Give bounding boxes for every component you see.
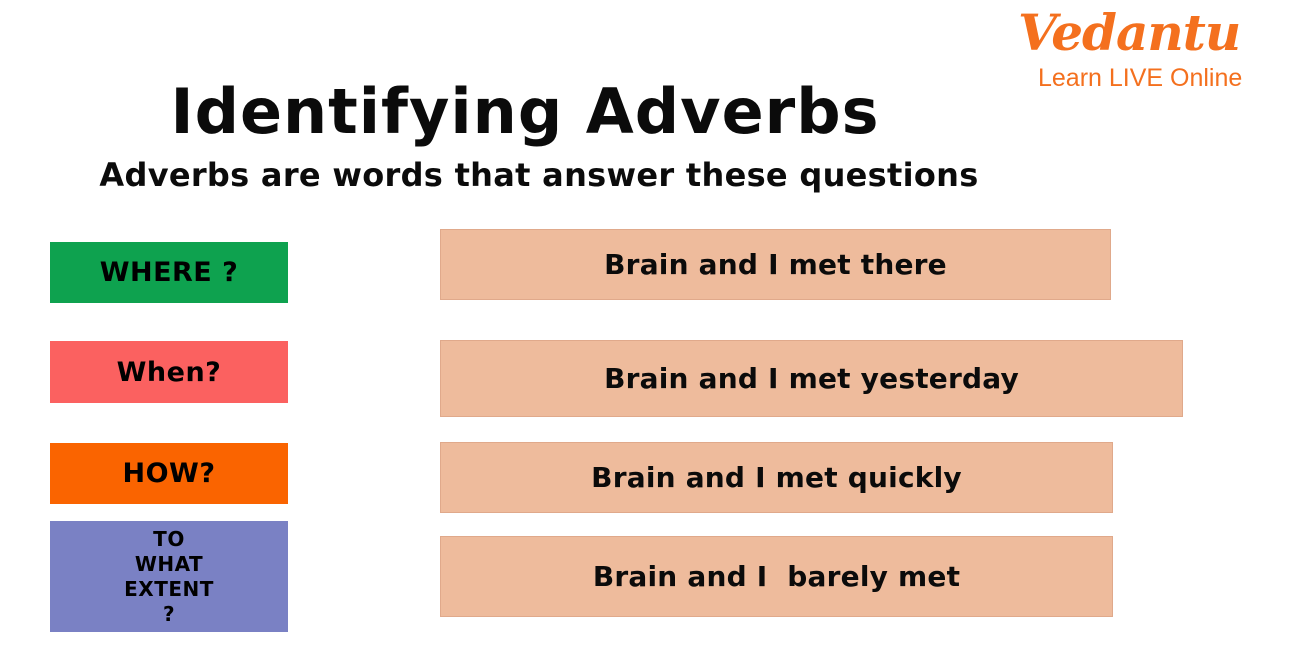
question-box-how-label: HOW? [50,458,288,489]
page-title: Identifying Adverbs [0,76,1050,148]
slide-canvas: Vedantu Learn LIVE Online Identifying Ad… [0,0,1303,658]
example-box-when-sentence: Brain and I met yesterday [604,362,1019,395]
question-box-to-what-extent: TO WHAT EXTENT ? [50,521,288,632]
page-subtitle: Adverbs are words that answer these ques… [0,154,1078,196]
example-box-when: Brain and I met yesterday [440,340,1183,417]
question-box-how: HOW? [50,443,288,504]
question-box-when-label: When? [50,357,288,388]
question-box-where-label: WHERE ? [50,257,288,288]
vedantu-wordmark: Vedantu [1018,2,1288,64]
question-box-where: WHERE ? [50,242,288,303]
example-box-to-what-extent-sentence: Brain and I barely met [593,560,960,593]
vedantu-logo: Vedantu Learn LIVE Online [1018,4,1288,94]
example-box-to-what-extent: Brain and I barely met [440,536,1113,617]
example-box-where-sentence: Brain and I met there [604,248,947,281]
example-box-how: Brain and I met quickly [440,442,1113,513]
example-box-where: Brain and I met there [440,229,1111,300]
example-box-how-sentence: Brain and I met quickly [591,461,962,494]
question-box-to-what-extent-label: TO WHAT EXTENT ? [50,527,288,627]
vedantu-tagline: Learn LIVE Online [1038,64,1288,92]
question-box-when: When? [50,341,288,403]
